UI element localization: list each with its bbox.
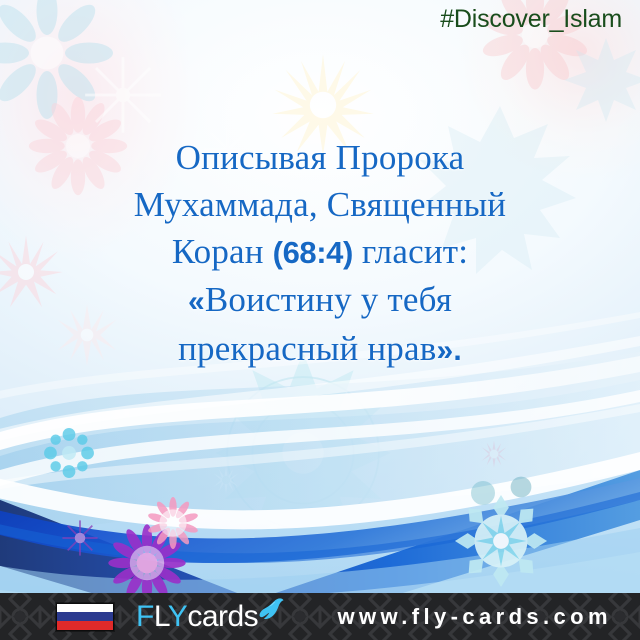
website-url[interactable]: www.fly-cards.com xyxy=(338,604,613,630)
hashtag-label: #Discover_Islam xyxy=(440,5,622,34)
quote-line-4: «Воистину у тебя xyxy=(40,276,600,325)
quote-line-2: Мухаммада, Священный xyxy=(40,181,600,228)
close-quote-mark: ». xyxy=(436,334,461,367)
quote-line-3-suffix: гласит: xyxy=(353,232,468,271)
quote-line-2-text: Мухаммада, Священный xyxy=(134,185,506,224)
quote-line-3: Коран (68:4) гласит: xyxy=(40,228,600,276)
dove-icon xyxy=(254,596,288,626)
logo-letter-f: F xyxy=(136,600,154,633)
quote-line-5: прекрасный нрав». xyxy=(40,325,600,374)
quote-line-5-text: прекрасный нрав xyxy=(178,329,436,368)
quote-line-3-prefix: Коран xyxy=(172,232,273,271)
quote-line-1-text: Описывая Пророка xyxy=(176,138,465,177)
footer-bar: FLYcards www.fly-cards.com xyxy=(0,593,640,640)
logo-letter-y: Y xyxy=(168,600,188,633)
quran-verse-reference: (68:4) xyxy=(273,235,353,270)
quote-line-4-text: Воистину у тебя xyxy=(205,280,452,319)
quote-line-1: Описывая Пророка xyxy=(40,134,600,181)
russia-flag-icon xyxy=(56,603,114,631)
quote-text-block: Описывая Пророка Мухаммада, Священный Ко… xyxy=(40,134,600,374)
greeting-card: #Discover_Islam Описывая Пророка Мухамма… xyxy=(0,0,640,640)
logo-word-cards: cards xyxy=(187,600,258,633)
flycards-logo[interactable]: FLYcards xyxy=(136,602,258,632)
open-quote-mark: « xyxy=(188,285,205,318)
logo-letter-l: L xyxy=(154,600,168,633)
